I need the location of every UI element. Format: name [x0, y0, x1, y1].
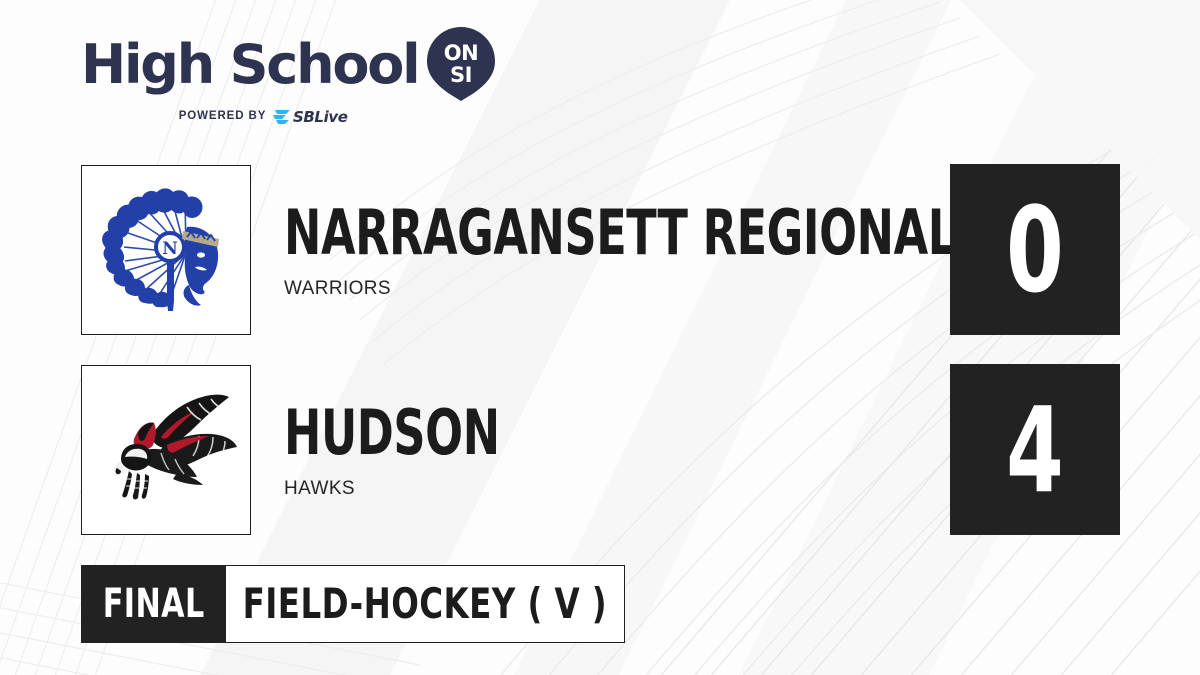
svg-text:N: N — [162, 239, 178, 259]
game-status-label: FINAL — [103, 584, 205, 624]
team-mascot: HAWKS — [284, 479, 554, 498]
team-score-box: 0 — [950, 164, 1120, 335]
svg-text:SI: SI — [450, 63, 472, 87]
sport-label-box: FIELD-HOCKEY ( V ) — [226, 565, 625, 643]
on-si-pin-icon: ON SI — [427, 27, 495, 101]
hawk-in-flight-icon — [91, 375, 241, 525]
powered-by-row: POWERED BY SBLive — [125, 106, 425, 126]
game-status-badge: FINAL — [81, 565, 226, 643]
sblive-logo-icon: SBLive — [273, 106, 371, 126]
team-logo-card: N — [81, 165, 251, 335]
warrior-chief-head-icon: N — [91, 175, 241, 325]
team-info: HUDSON HAWKS — [284, 365, 554, 535]
sblive-wordmark: SBLive — [293, 108, 348, 126]
team-row: N NARRAGANSETT REGIONAL WARRI — [81, 165, 1121, 335]
team-score-box: 4 — [950, 364, 1120, 535]
team-name: NARRAGANSETT REGIONAL — [284, 202, 956, 264]
sport-label: FIELD-HOCKEY ( V ) — [243, 583, 607, 625]
svg-text:ON: ON — [444, 41, 478, 65]
team-name: HUDSON — [284, 402, 500, 464]
high-school-wordmark: High School — [81, 38, 418, 92]
status-bar: FINAL FIELD-HOCKEY ( V ) — [81, 565, 625, 643]
team-score: 0 — [1006, 191, 1064, 309]
team-row: HUDSON HAWKS 4 — [81, 365, 1121, 535]
brand-logo: High School ON SI POWERED BY — [81, 33, 511, 126]
brand-row: High School ON SI — [81, 33, 511, 97]
team-logo-card — [81, 365, 251, 535]
powered-by-label: POWERED BY — [179, 110, 267, 122]
team-score: 4 — [1006, 391, 1064, 509]
